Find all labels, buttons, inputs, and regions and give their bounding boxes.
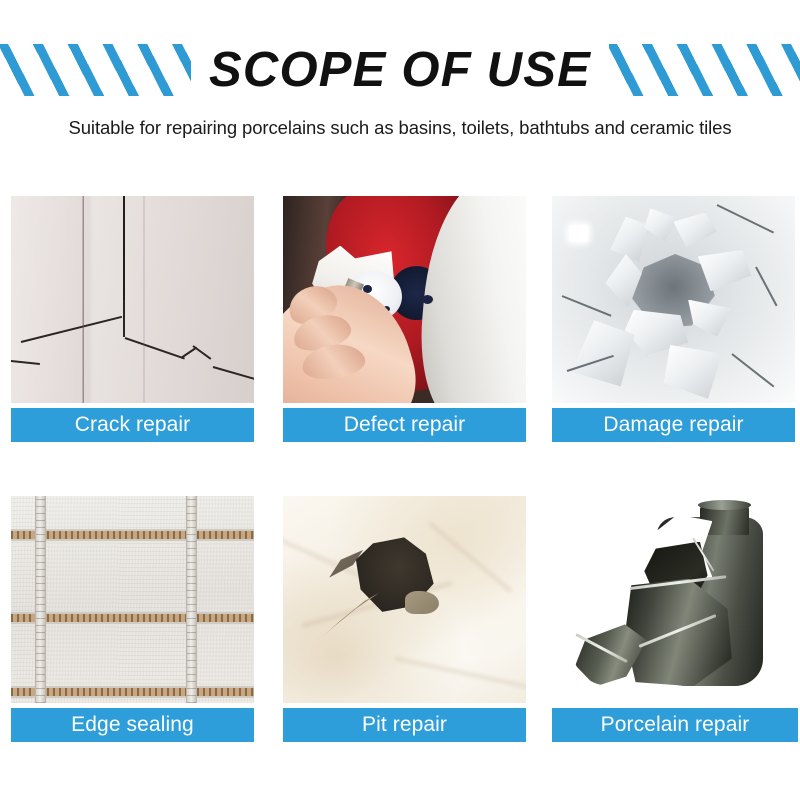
use-case-grid: Crack repair Defect repair — [0, 196, 800, 756]
use-case-tile-crack-repair[interactable]: Crack repair — [11, 196, 254, 436]
edge-sealing-label: Edge sealing — [11, 708, 254, 742]
use-case-tile-defect-repair[interactable]: Defect repair — [283, 196, 526, 436]
use-case-tile-edge-sealing[interactable]: Edge sealing — [11, 496, 254, 736]
diagonal-stripes-left-icon — [0, 44, 191, 96]
crack-repair-label: Crack repair — [11, 408, 254, 442]
title-banner: SCOPE OF USE — [0, 42, 800, 98]
damage-repair-label: Damage repair — [552, 408, 795, 442]
edge-sealing-photo — [11, 496, 254, 703]
defect-repair-label: Defect repair — [283, 408, 526, 442]
crack-repair-photo — [11, 196, 254, 403]
pit-repair-photo — [283, 496, 526, 703]
page-header: SCOPE OF USE Suitable for repairing porc… — [0, 0, 800, 108]
porcelain-repair-label: Porcelain repair — [552, 708, 798, 742]
use-case-tile-damage-repair[interactable]: Damage repair — [552, 196, 795, 436]
diagonal-stripes-right-icon — [609, 44, 800, 96]
use-case-tile-pit-repair[interactable]: Pit repair — [283, 496, 526, 736]
damage-repair-photo — [552, 196, 795, 403]
porcelain-repair-photo — [552, 496, 795, 703]
pit-repair-label: Pit repair — [283, 708, 526, 742]
page-subtitle: Suitable for repairing porcelains such a… — [0, 117, 800, 139]
use-case-tile-porcelain-repair[interactable]: Porcelain repair — [552, 496, 795, 736]
page-title: SCOPE OF USE — [205, 46, 595, 95]
defect-repair-photo — [283, 196, 526, 403]
